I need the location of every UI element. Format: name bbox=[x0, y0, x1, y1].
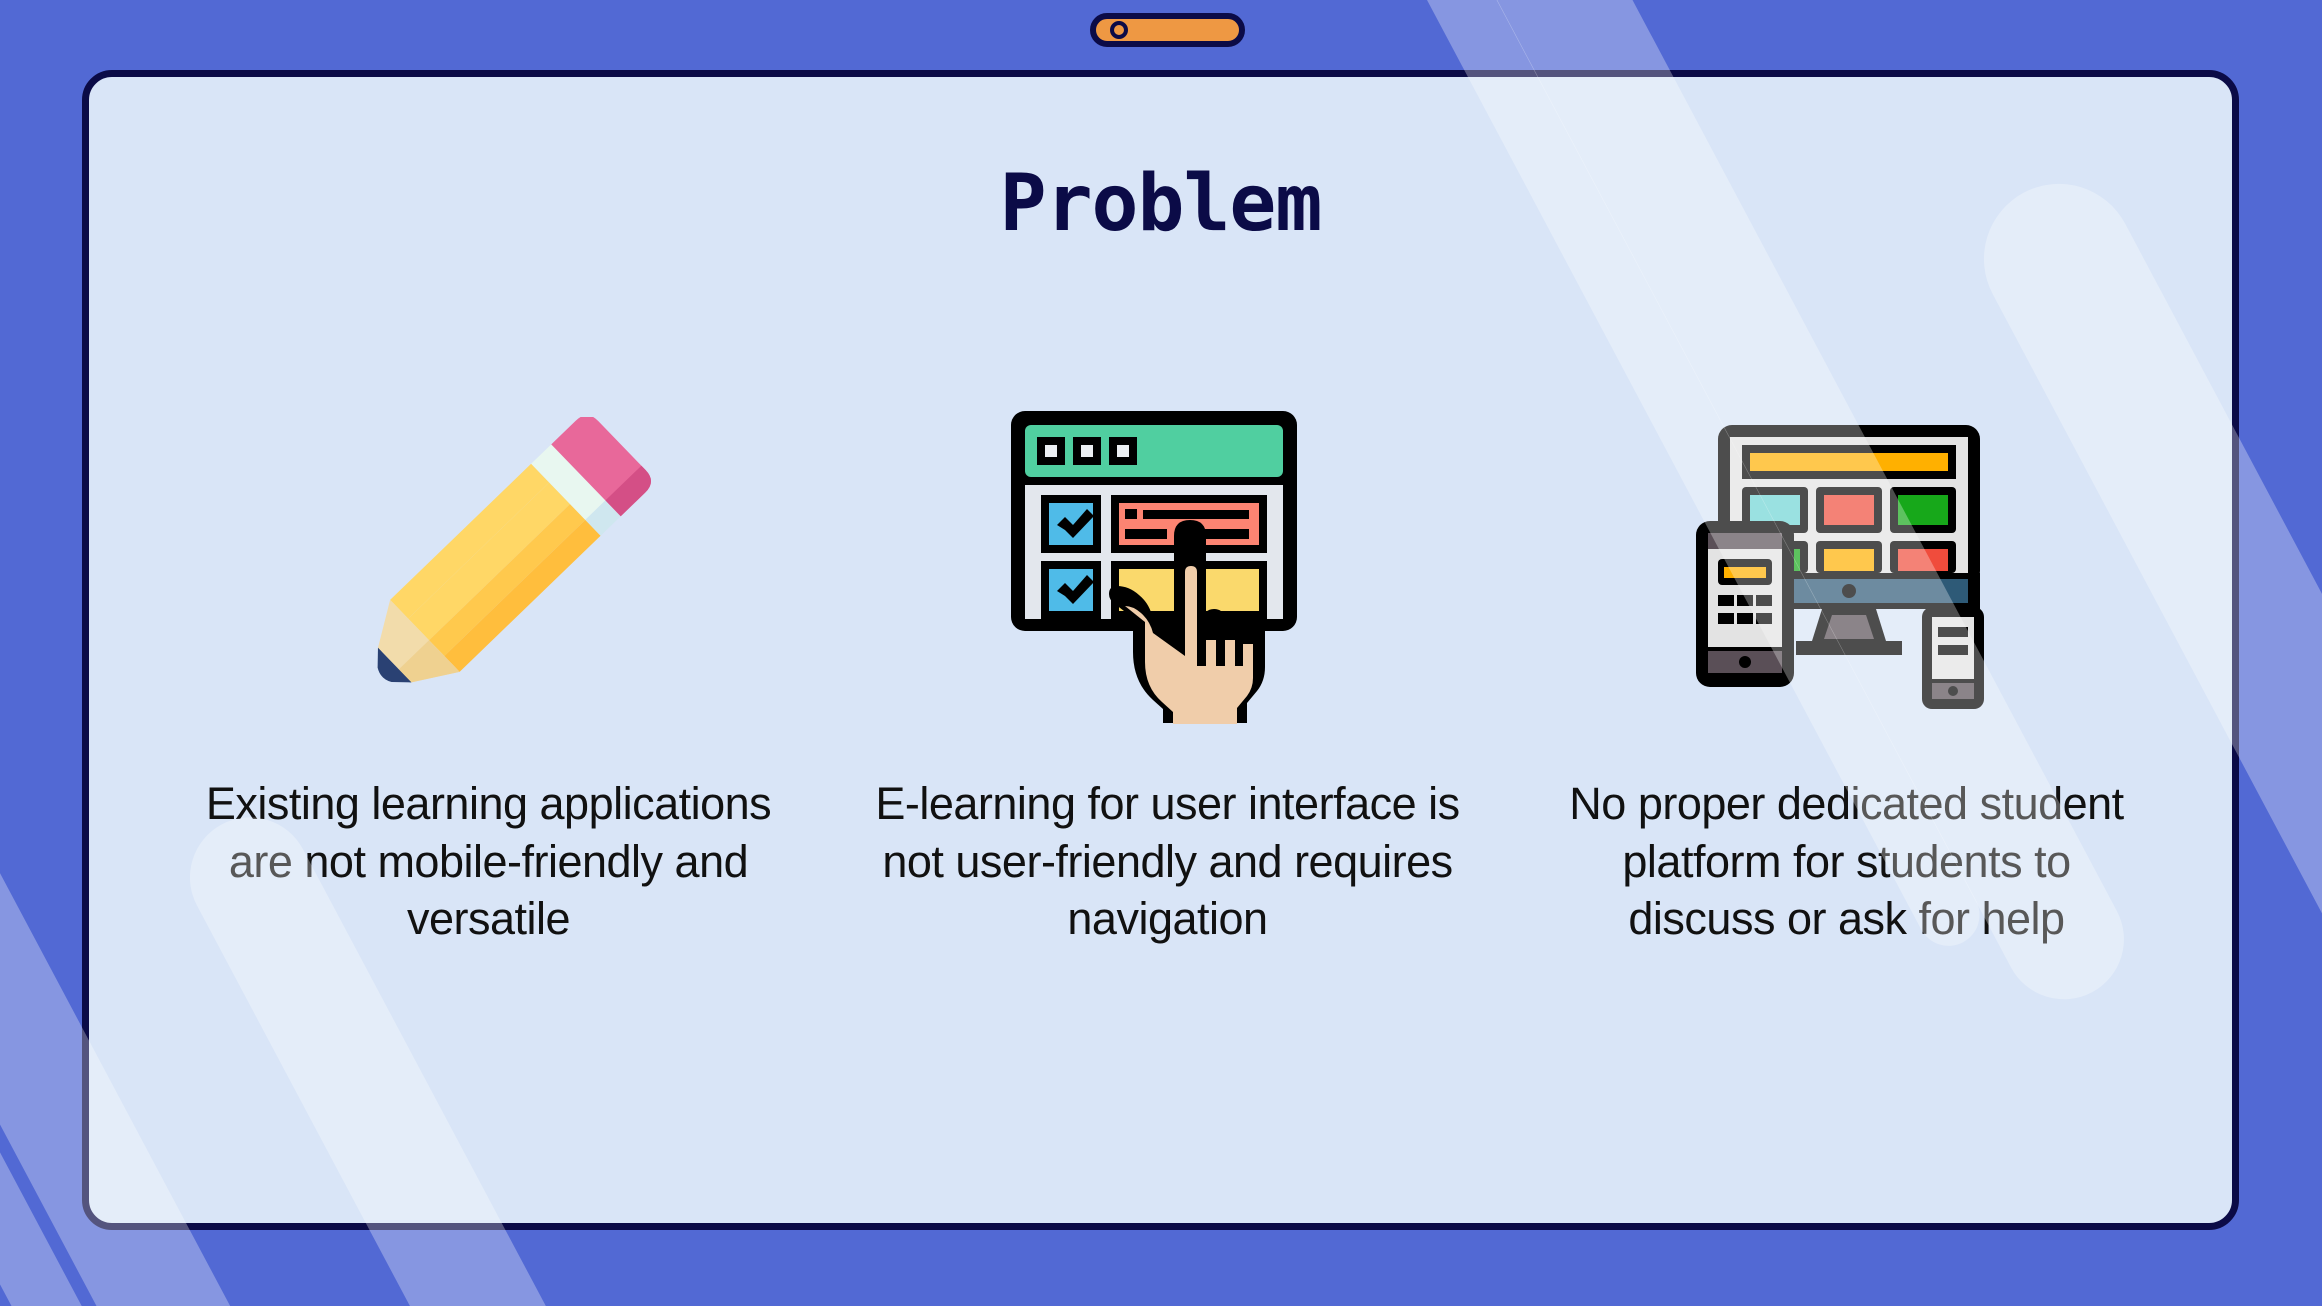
page-title: Problem bbox=[89, 159, 2232, 249]
problem-caption-2: E-learning for user interface is not use… bbox=[868, 775, 1468, 948]
problem-item-1: Existing learning applications are not m… bbox=[149, 407, 828, 948]
problem-caption-3: No proper dedicated student platform for… bbox=[1547, 775, 2147, 948]
problem-item-2: E-learning for user interface is not use… bbox=[828, 407, 1507, 948]
problem-columns: Existing learning applications are not m… bbox=[149, 407, 2186, 948]
browser-window-click-icon bbox=[1003, 407, 1333, 727]
tablet-notch bbox=[1090, 13, 1245, 47]
responsive-devices-icon bbox=[1682, 407, 2012, 727]
problem-caption-1: Existing learning applications are not m… bbox=[189, 775, 789, 948]
problem-item-3: No proper dedicated student platform for… bbox=[1507, 407, 2186, 948]
browser-click-svg bbox=[1003, 407, 1333, 727]
devices-svg bbox=[1682, 417, 2012, 717]
tablet-screen-frame: Problem bbox=[82, 70, 2239, 1230]
pencil-svg bbox=[324, 417, 654, 717]
pencil-icon bbox=[324, 407, 654, 727]
camera-icon bbox=[1110, 21, 1128, 39]
